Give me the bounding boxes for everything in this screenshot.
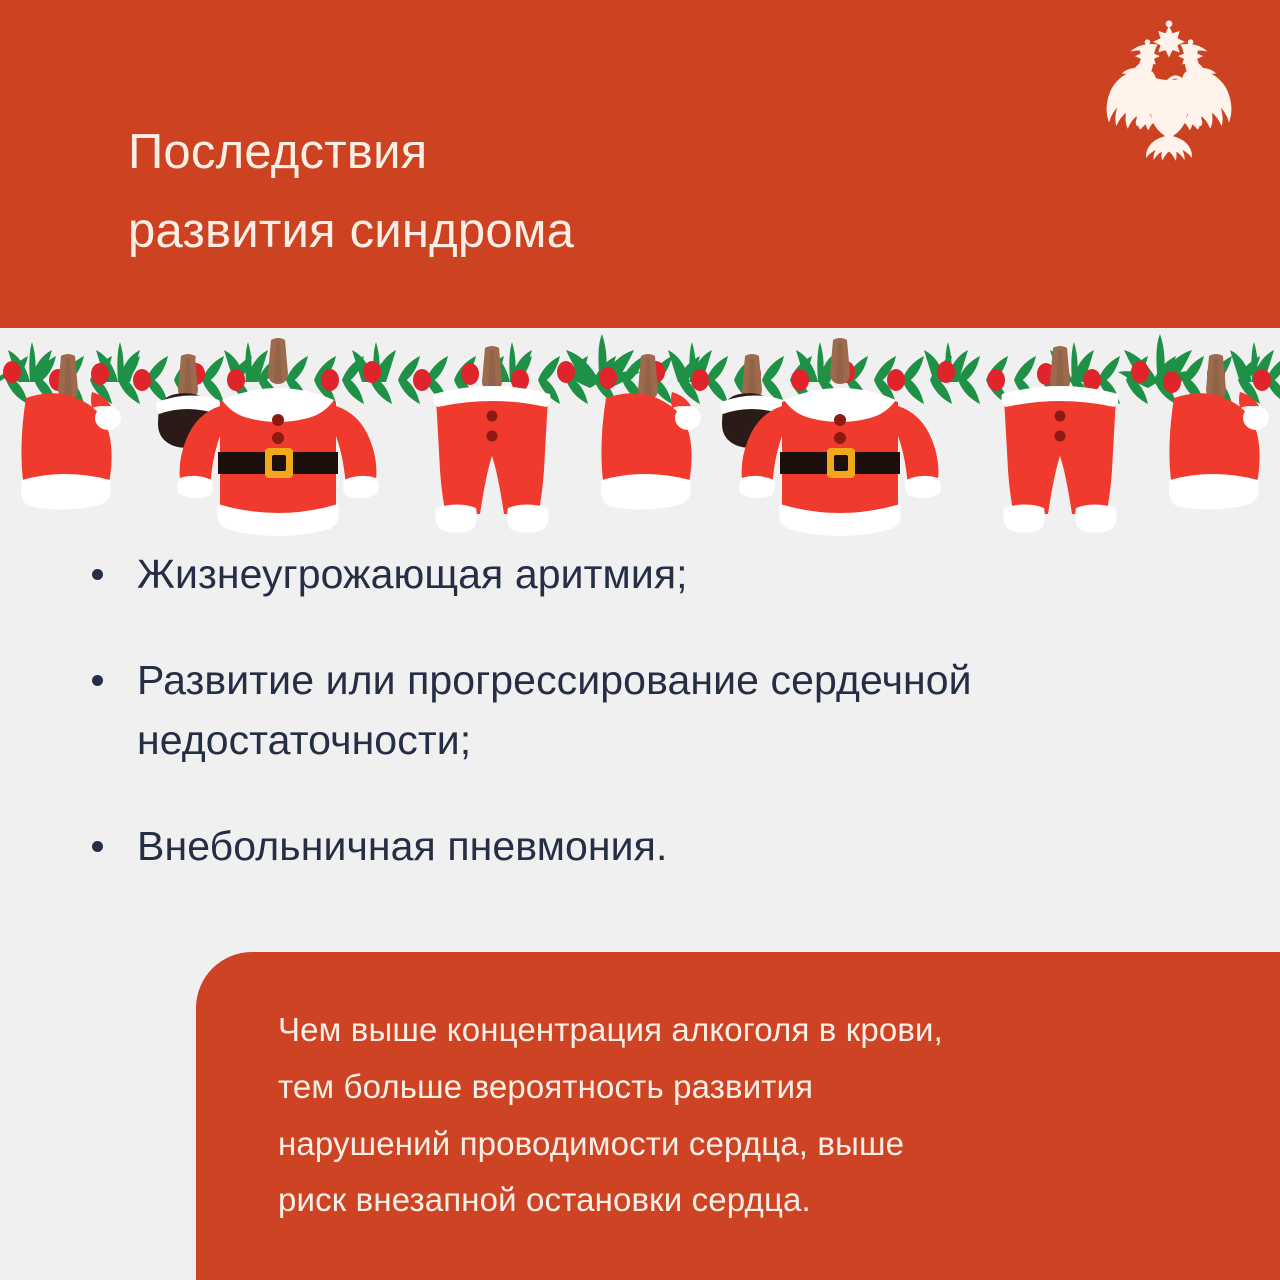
callout-text: Чем выше концентрация алкоголя в крови, …: [278, 1002, 1228, 1229]
callout-box: Чем выше концентрация алкоголя в крови, …: [196, 952, 1280, 1280]
christmas-garland-decoration: [0, 328, 1280, 543]
bullet-dot-icon: [92, 841, 103, 852]
consequences-bullet-list: Жизнеугрожающая аритмия; Развитие или пр…: [92, 545, 1202, 876]
list-item: Жизнеугрожающая аритмия;: [92, 545, 1202, 605]
list-item: Развитие или прогрессирование сердечной …: [92, 651, 1202, 771]
page-title: Последствия развития синдрома: [128, 113, 1028, 272]
poster-canvas: Последствия развития синдрома: [0, 0, 1280, 1280]
bullet-text: Развитие или прогрессирование сердечной …: [137, 651, 1202, 771]
list-item: Внебольничная пневмония.: [92, 817, 1202, 877]
rospotrebnadzor-eagle-emblem-icon: [1094, 14, 1244, 164]
header-banner: Последствия развития синдрома: [0, 0, 1280, 328]
bullet-text: Жизнеугрожающая аритмия;: [137, 545, 1202, 605]
bullet-text: Внебольничная пневмония.: [137, 817, 1202, 877]
bullet-dot-icon: [92, 675, 103, 686]
bullet-dot-icon: [92, 569, 103, 580]
